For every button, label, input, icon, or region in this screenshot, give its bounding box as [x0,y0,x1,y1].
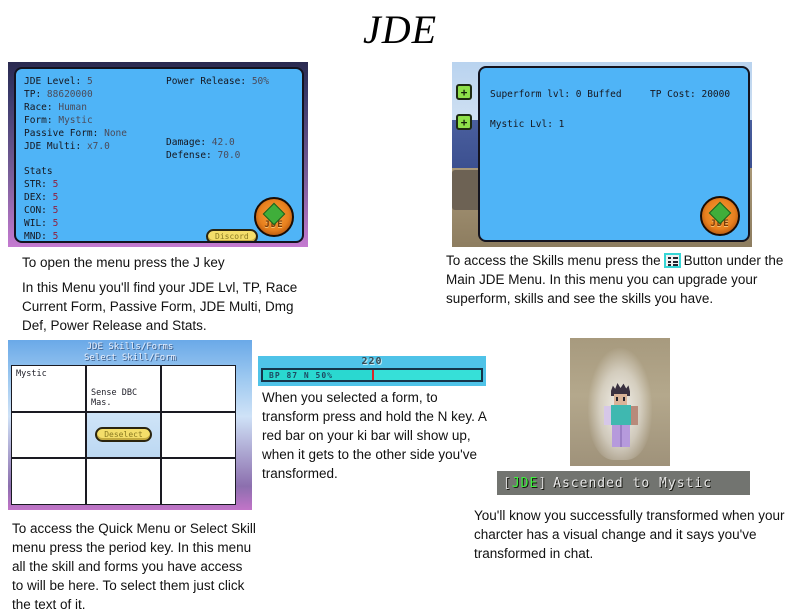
caption-skills-menu: To access the Skills menu press theButto… [446,251,786,308]
value: Human [58,102,87,113]
select-menu-title-line2: Select Skill/Form [8,353,252,364]
ki-bar-number: 220 [258,356,486,367]
mystic-plus-button[interactable]: + [456,114,472,130]
label: JDE Multi: [24,141,81,152]
grid-cell-8[interactable] [86,458,161,505]
stat-con: CON: 5 [24,205,58,216]
select-menu-title: JDE Skills/Forms Select Skill/Form [8,342,252,364]
character-torso [611,405,631,425]
value: 5 [53,179,59,190]
value: 5 [87,76,93,87]
chat-message-banner: [JDE] Ascended to Mystic [497,471,750,495]
stat-row-jde-level: JDE Level: 5 [24,76,93,87]
stat-dex: DEX: 5 [24,192,58,203]
value: 42.0 [212,137,235,148]
jde-logo-badge[interactable]: JDE [254,197,294,237]
value: x7.0 [87,141,110,152]
character-arm-right [631,406,638,425]
stat-mnd: MND: 5 [24,231,58,242]
character-leg-split [620,425,622,447]
ki-bar-widget: 220 BP 87 N 50% [258,356,486,386]
grid-cell-3[interactable] [161,365,236,412]
label: MND: [24,231,47,242]
stat-row-race: Race: Human [24,102,87,113]
label: DEX: [24,192,47,203]
select-menu-title-line1: JDE Skills/Forms [8,342,252,353]
skills-menu-panel: Superform lvl: 0 Buffed TP Cost: 20000 M… [478,66,750,242]
ki-bar-text: BP 87 N 50% [269,371,333,380]
stat-row-power-release: Power Release: 50% [166,76,269,87]
grid-cell-mystic[interactable]: Mystic [11,365,86,412]
stats-header: Stats [24,166,53,177]
grid-cell-7[interactable] [11,458,86,505]
ki-bar-transform-marker [372,370,374,380]
value: None [104,128,127,139]
skills-row-superform-label: Superform lvl: 0 Buffed [490,89,622,100]
grid-cell-9[interactable] [161,458,236,505]
value: Mystic [58,115,92,126]
page-title: JDE [0,6,800,53]
value: 5 [53,231,59,242]
character-eye-right [623,397,625,401]
label: Power Release: [166,76,246,87]
skills-row-mystic-label: Mystic Lvl: 1 [490,119,564,130]
label: Defense: [166,150,212,161]
stat-row-damage: Damage: 42.0 [166,137,235,148]
label: STR: [24,179,47,190]
stat-row-defense: Defense: 70.0 [166,150,240,161]
discord-button[interactable]: Discord [206,229,258,243]
label: CON: [24,205,47,216]
stat-row-tp: TP: 88620000 [24,89,93,100]
label: Damage: [166,137,206,148]
skill-form-grid: Mystic Sense DBC Mas. Deselect [11,365,236,505]
stat-row-form: Form: Mystic [24,115,93,126]
caption-open-menu: To open the menu press the J key [22,253,322,272]
ki-bar: BP 87 N 50% [261,368,483,382]
jde-logo-badge-skills[interactable]: JDE [700,196,740,236]
caption-skills-menu-before: To access the Skills menu press the [446,253,661,268]
deselect-button[interactable]: Deselect [95,427,152,442]
chat-bracket-open: [ [503,476,512,491]
caption-transform: When you selected a form, to transform p… [262,388,487,483]
main-jde-menu-panel: JDE Level: 5 TP: 88620000 Race: Human Fo… [14,67,304,243]
grid-cell-sense-dbc[interactable]: Sense DBC Mas. [86,365,161,412]
label: TP: [24,89,41,100]
label: Passive Form: [24,128,98,139]
value: 5 [53,192,59,203]
label: Race: [24,102,53,113]
stat-row-passive-form: Passive Form: None [24,128,127,139]
character-screenshot [570,338,670,466]
label: Form: [24,115,53,126]
value: 88620000 [47,89,93,100]
stat-row-jde-multi: JDE Multi: x7.0 [24,141,110,152]
grid-cell-deselect[interactable]: Deselect [86,412,161,459]
caption-menu-contents: In this Menu you'll find your JDE Lvl, T… [22,278,322,335]
caption-transform-confirm: You'll know you successfully transformed… [474,506,789,563]
superform-plus-button[interactable]: + [456,84,472,100]
stat-wil: WIL: 5 [24,218,58,229]
value: 70.0 [218,150,241,161]
value: 50% [252,76,269,87]
grid-cell-6[interactable] [161,412,236,459]
chat-bracket-close: ] [538,476,547,491]
label: JDE Level: [24,76,81,87]
label: WIL: [24,218,47,229]
chat-tag: JDE [512,476,538,491]
chat-message-text: Ascended to Mystic [553,476,712,491]
character-eye-left [616,397,618,401]
grid-cell-4[interactable] [11,412,86,459]
stat-str: STR: 5 [24,179,58,190]
skills-row-superform-cost: TP Cost: 20000 [650,89,730,100]
value: 5 [53,205,59,216]
skills-list-icon[interactable] [664,253,681,268]
character-arm-left [604,406,611,425]
value: 5 [53,218,59,229]
